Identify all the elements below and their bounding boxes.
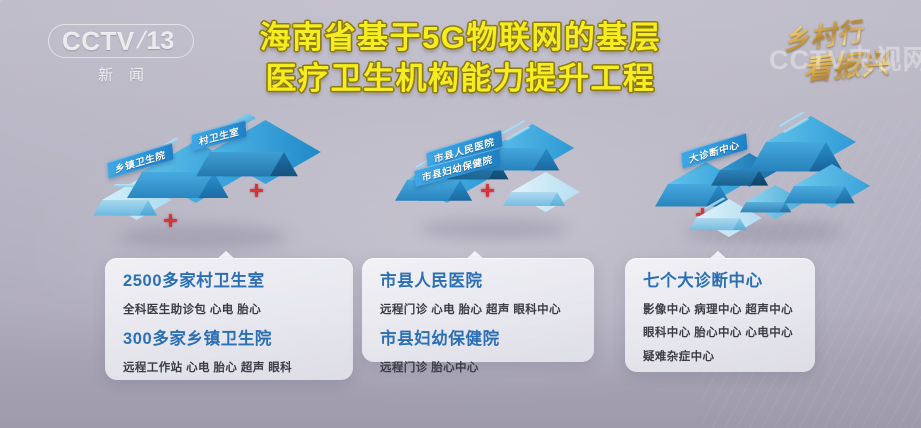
block-right-face bbox=[784, 186, 845, 203]
scene-village-township: 乡镇卫生院 村卫生室 bbox=[100, 128, 310, 253]
broadcast-graphic-stage: CCTV / 13 新 闻 海南省基于5G物联网的基层 医疗卫生机构能力提升工程… bbox=[0, 0, 921, 428]
medical-cross-icon bbox=[164, 214, 177, 227]
cctv-channel-logo: CCTV / 13 新 闻 bbox=[52, 24, 192, 82]
cctv-subtitle-char-2: 闻 bbox=[129, 64, 146, 85]
block-right-face bbox=[740, 202, 785, 212]
block-right-face bbox=[689, 218, 740, 230]
cctv-logo-outline bbox=[48, 24, 194, 58]
card-heading: 市县人民医院 bbox=[380, 272, 580, 292]
block-right-face bbox=[93, 200, 148, 216]
info-card-village-clinics: 2500多家村卫生室 全科医生助诊包 心电 胎心 300多家乡镇卫生院 远程工作… bbox=[105, 258, 353, 380]
card-heading: 七个大诊断中心 bbox=[643, 272, 801, 292]
info-card-diagnostic-centers: 七个大诊断中心 影像中心 病理中心 超声中心 眼科中心 胎心中心 心电中心 疑难… bbox=[625, 258, 815, 372]
block-right-face bbox=[196, 152, 284, 176]
medical-cross-icon bbox=[250, 184, 263, 197]
scene-shadow bbox=[118, 224, 288, 250]
card-detail: 疑难杂症中心 bbox=[643, 350, 801, 364]
cctv-watermark: CCTV央视网 bbox=[769, 38, 921, 77]
medical-cross-icon bbox=[481, 184, 494, 197]
card-detail: 远程门诊 心电 胎心 超声 眼科中心 bbox=[380, 303, 580, 317]
card-detail: 全科医生助诊包 心电 胎心 bbox=[123, 303, 339, 317]
scene-shadow bbox=[419, 218, 569, 240]
card-heading: 300多家乡镇卫生院 bbox=[123, 330, 339, 350]
block-right-face bbox=[503, 192, 557, 206]
card-notch bbox=[466, 251, 484, 259]
cctv-channel-subtitle: 新 闻 bbox=[52, 64, 192, 85]
card-detail: 眼科中心 胎心中心 心电中心 bbox=[643, 326, 801, 340]
cctv-subtitle-char-1: 新 bbox=[98, 64, 115, 85]
info-card-county-hospitals: 市县人民医院 远程门诊 心电 胎心 超声 眼科中心 市县妇幼保健院 远程门诊 胎… bbox=[362, 258, 594, 362]
scene-county-hospitals: 市县人民医院 市县妇幼保健院 bbox=[405, 140, 595, 250]
card-detail: 影像中心 病理中心 超声中心 bbox=[643, 303, 801, 317]
program-logo: 乡村行 看振兴 CCTV央视网 bbox=[775, 12, 907, 88]
card-detail: 远程工作站 心电 胎心 超声 眼科 bbox=[123, 361, 339, 375]
card-heading: 市县妇幼保健院 bbox=[380, 330, 580, 350]
scene-diagnostic-centers: 大诊断中心 bbox=[668, 136, 868, 254]
card-detail: 远程门诊 胎心中心 bbox=[380, 361, 580, 375]
card-heading: 2500多家村卫生室 bbox=[123, 272, 339, 292]
